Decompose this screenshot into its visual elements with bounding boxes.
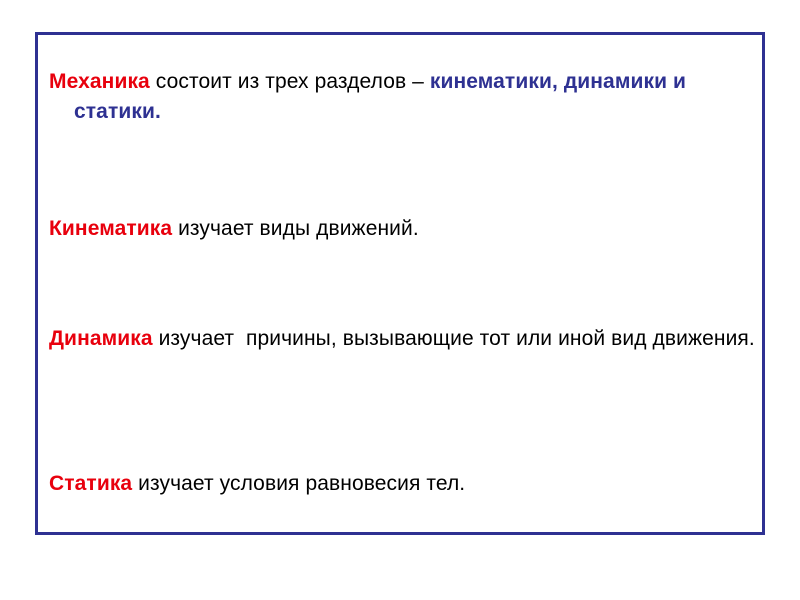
statement-statics-body: изучает условия равновесия тел. (132, 472, 465, 495)
statement-mechanics: Механика состоит из трех разделов – кине… (49, 67, 755, 127)
statement-dynamics: Динамика изучает причины, вызывающие тот… (49, 324, 755, 354)
statement-kinematics-body: изучает виды движений. (172, 217, 419, 240)
term-statics: Статика (49, 472, 132, 495)
content-frame: Механика состоит из трех разделов – кине… (35, 32, 765, 535)
statement-mechanics-body: состоит из трех разделов – (150, 70, 430, 93)
term-kinematics: Кинематика (49, 217, 172, 240)
slide-canvas: Механика состоит из трех разделов – кине… (0, 0, 800, 600)
statement-statics: Статика изучает условия равновесия тел. (49, 469, 755, 499)
term-mechanics: Механика (49, 70, 150, 93)
term-dynamics: Динамика (49, 327, 153, 350)
statement-dynamics-body: изучает причины, вызывающие тот или иной… (153, 327, 755, 350)
statement-kinematics: Кинематика изучает виды движений. (49, 214, 755, 244)
